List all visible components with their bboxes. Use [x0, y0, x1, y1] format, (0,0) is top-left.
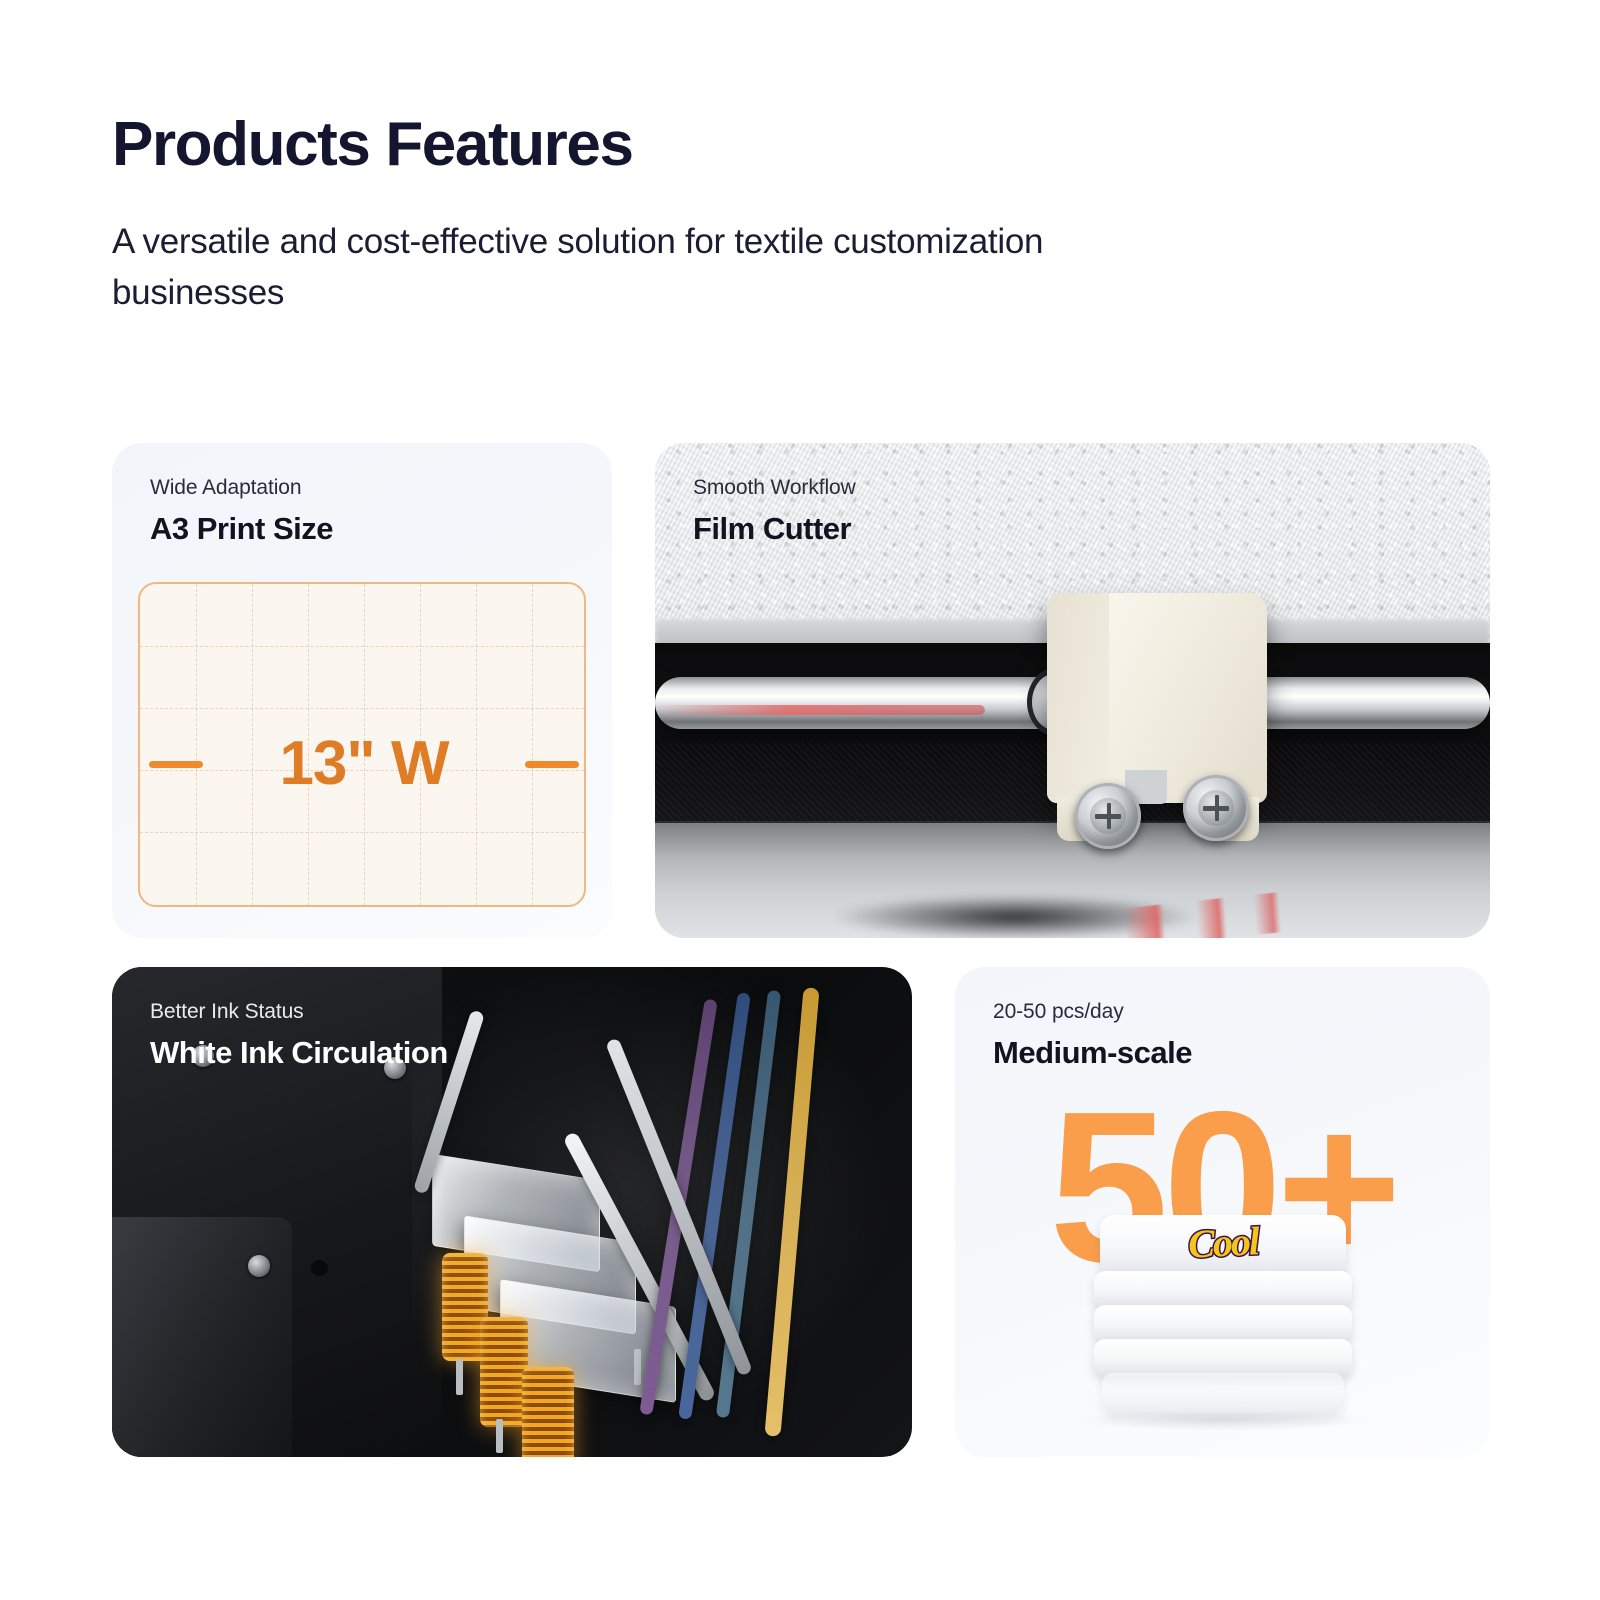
- carriage-wheel-left-icon: [1075, 783, 1141, 849]
- card-label-medium-scale: 20-50 pcs/day Medium-scale: [993, 1000, 1192, 1071]
- shirt-print-graphic: Cool: [1151, 1219, 1295, 1266]
- panel-hole: [310, 1257, 329, 1276]
- carriage-wheel-right-icon: [1183, 775, 1249, 841]
- card-label-white-ink: Better Ink Status White Ink Circulation: [150, 1000, 448, 1071]
- card-title: Medium-scale: [993, 1035, 1192, 1071]
- cutter-carriage-body: [1047, 593, 1267, 803]
- screw-icon: [248, 1255, 270, 1277]
- print-area-grid: 13" W: [138, 582, 586, 907]
- card-label-print-size: Wide Adaptation A3 Print Size: [150, 476, 333, 547]
- folded-shirt: [1094, 1271, 1352, 1309]
- printer-bracket: [112, 1217, 292, 1457]
- card-eyebrow: Wide Adaptation: [150, 476, 333, 500]
- feature-card-print-size[interactable]: Wide Adaptation A3 Print Size 13" W: [112, 443, 612, 938]
- width-dimension-indicator: 13" W: [138, 741, 586, 787]
- card-eyebrow: Better Ink Status: [150, 1000, 448, 1024]
- rail-red-stripe: [655, 705, 985, 715]
- feature-card-white-ink-circulation[interactable]: Better Ink Status White Ink Circulation: [112, 967, 912, 1457]
- dimension-tick-left-icon: [149, 761, 203, 768]
- ink-highlight: [412, 967, 912, 1457]
- card-eyebrow: Smooth Workflow: [693, 476, 856, 500]
- feature-card-film-cutter[interactable]: Smooth Workflow Film Cutter: [655, 443, 1490, 938]
- card-eyebrow: 20-50 pcs/day: [993, 1000, 1192, 1024]
- card-title: Film Cutter: [693, 511, 856, 547]
- shirt-stack: Cool: [1094, 1215, 1352, 1420]
- dimension-tick-right-icon: [525, 761, 579, 768]
- card-title: A3 Print Size: [150, 511, 333, 547]
- folded-shirt: [1094, 1339, 1352, 1377]
- folded-shirt: [1094, 1305, 1352, 1343]
- card-label-film-cutter: Smooth Workflow Film Cutter: [693, 476, 856, 547]
- folded-shirt: [1102, 1373, 1344, 1413]
- card-title: White Ink Circulation: [150, 1035, 448, 1071]
- shirt-print-text: Cool: [1151, 1219, 1295, 1266]
- feature-card-grid: Wide Adaptation A3 Print Size 13" W: [0, 0, 1600, 1600]
- feature-card-medium-scale[interactable]: 20-50 pcs/day Medium-scale 50+ Cool: [955, 967, 1490, 1457]
- dimension-value: 13" W: [203, 733, 525, 795]
